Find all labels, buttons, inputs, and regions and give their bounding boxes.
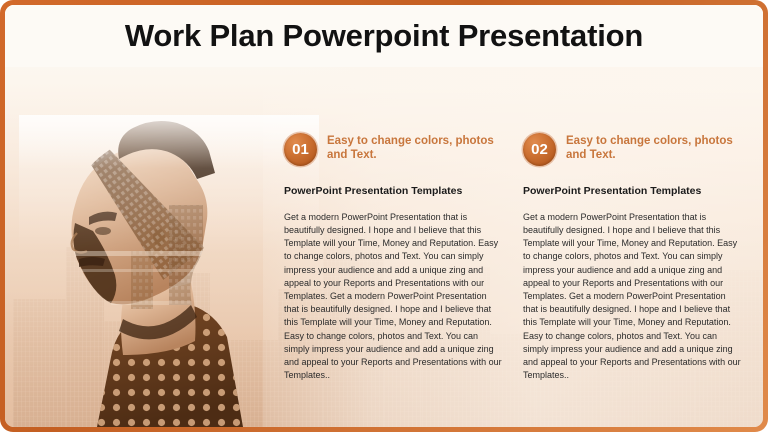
content-columns: 01 Easy to change colors, photos and Tex… [284, 133, 756, 382]
page-title: Work Plan Powerpoint Presentation [5, 18, 763, 54]
column-02-heading: Easy to change colors, photos and Text. [566, 133, 741, 162]
column-02-subheading: PowerPoint Presentation Templates [523, 185, 741, 199]
double-exposure-figure [19, 55, 319, 427]
presentation-slide: 01 Easy to change colors, photos and Tex… [0, 0, 768, 432]
column-01: 01 Easy to change colors, photos and Tex… [284, 133, 502, 382]
column-02-body: Get a modern PowerPoint Presentation tha… [523, 211, 741, 383]
column-02-header: 02 Easy to change colors, photos and Tex… [523, 133, 741, 175]
title-band: Work Plan Powerpoint Presentation [5, 5, 763, 67]
step-number-badge-02: 02 [523, 133, 556, 166]
column-01-body: Get a modern PowerPoint Presentation tha… [284, 211, 502, 383]
man-silhouette-icon [19, 55, 319, 427]
slide-canvas: 01 Easy to change colors, photos and Tex… [5, 5, 763, 427]
step-number-badge-01: 01 [284, 133, 317, 166]
column-02: 02 Easy to change colors, photos and Tex… [523, 133, 741, 382]
column-01-heading: Easy to change colors, photos and Text. [327, 133, 502, 162]
column-01-subheading: PowerPoint Presentation Templates [284, 185, 502, 199]
column-01-header: 01 Easy to change colors, photos and Tex… [284, 133, 502, 175]
